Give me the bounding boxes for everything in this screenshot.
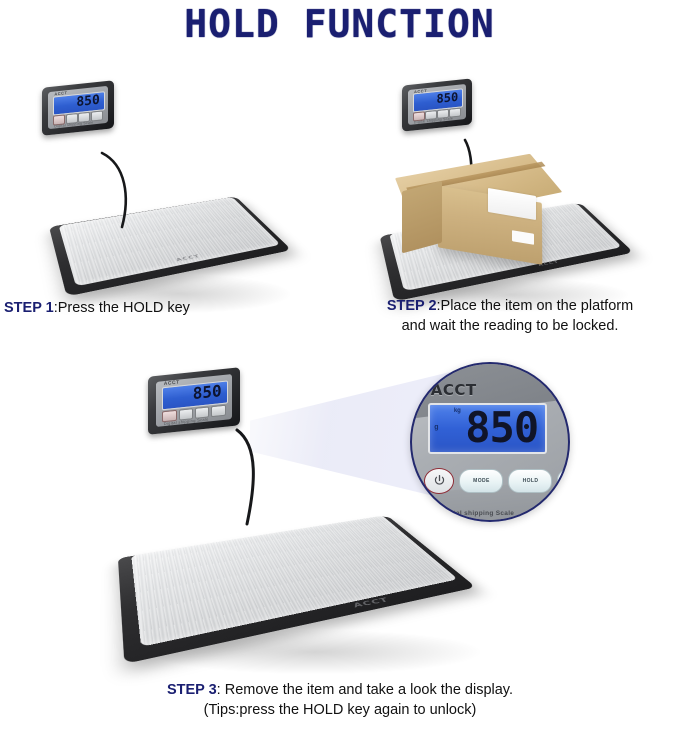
- scale-platform: ACCT: [58, 178, 273, 298]
- magnified-reading: 850: [465, 407, 538, 449]
- step-2-text-line2: and wait the reading to be locked.: [402, 318, 619, 334]
- display-head: ACCT 850 Digital shipping Scale: [148, 367, 240, 435]
- step-3-label: STEP 3: [167, 682, 217, 698]
- page-title: HOLD FUNCTION: [0, 2, 679, 46]
- step-1-label: STEP 1: [4, 300, 54, 316]
- step-3-text: : Remove the item and take a look the di…: [217, 682, 513, 698]
- power-icon-button[interactable]: [424, 468, 454, 494]
- step-2-scene: ACCT ACCT 850: [340, 60, 679, 295]
- tare-button[interactable]: TARE: [557, 469, 570, 493]
- tare-button[interactable]: [211, 404, 226, 417]
- step-1-text: :Press the HOLD key: [54, 300, 190, 316]
- infographic-page: HOLD FUNCTION ACCT ACCT 850: [0, 0, 679, 732]
- unit-g-indicator: g: [434, 424, 438, 431]
- mode-button[interactable]: MODE: [459, 469, 503, 493]
- hold-button[interactable]: HOLD: [508, 469, 552, 493]
- box-left-face: [402, 181, 442, 254]
- scale-platform-large: ACCT: [128, 488, 448, 656]
- step-3-caption: STEP 3: Remove the item and take a look …: [60, 680, 620, 720]
- magnified-footer-text: Digital shipping Scale: [440, 510, 514, 517]
- display-head: ACCT 850 Digital shipping Scale: [42, 80, 114, 136]
- unit-kg-indicator: kg: [454, 408, 461, 414]
- display-face: ACCT 850 Digital shipping Scale: [156, 374, 231, 427]
- display-reading: 850: [76, 93, 99, 108]
- magnified-lcd-screen: kg g 850: [428, 403, 547, 454]
- magnified-button-row: MODE HOLD TARE: [424, 464, 555, 498]
- shipping-box: [392, 140, 592, 260]
- display-reading: 850: [437, 91, 459, 105]
- magnified-footer-brand: ACCT: [544, 509, 561, 515]
- display-head: ACCT 850 Digital shipping Scale: [402, 78, 472, 131]
- display-reading: 850: [193, 383, 222, 402]
- display-face: ACCT 850 Digital shipping Scale: [48, 86, 107, 130]
- power-icon: [433, 474, 446, 487]
- magnified-brand-logo: ACCT: [431, 381, 477, 399]
- magnified-display-view: ACCT kg g 850 MODE HOLD TARE Digital shi…: [410, 362, 570, 522]
- step-2-text: :Place the item on the platform: [437, 298, 634, 314]
- step-2-label: STEP 2: [387, 298, 437, 314]
- step-2-caption: STEP 2:Place the item on the platform an…: [345, 296, 675, 336]
- display-face: ACCT 850 Digital shipping Scale: [408, 84, 465, 126]
- step-1-scene: ACCT ACCT 850 Digital shipping Scale: [0, 60, 339, 295]
- step-3-text-line2: (Tips:press the HOLD key again to unlock…: [204, 702, 477, 718]
- step-1-caption: STEP 1:Press the HOLD key: [4, 298, 334, 318]
